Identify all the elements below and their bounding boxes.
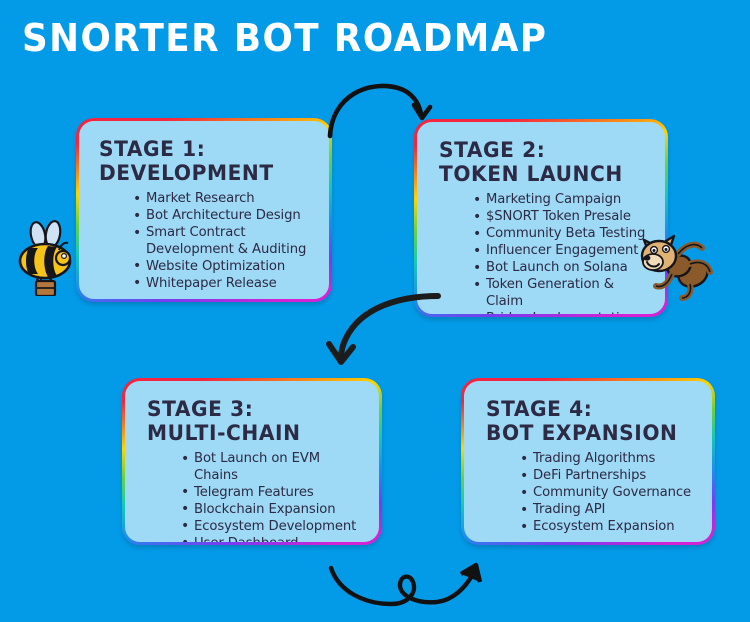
stage-card-4-title-line2: BOT EXPANSION (486, 421, 690, 445)
list-item: Smart Contract Development & Auditing (133, 225, 315, 258)
list-item: Whitepaper Release (133, 276, 315, 293)
list-item: Community Beta Testing (473, 226, 651, 243)
stage-card-3-body: STAGE 3: MULTI-CHAIN Bot Launch on EVM C… (125, 381, 379, 542)
bee-mascot-icon (12, 220, 88, 296)
stage-card-1-list: Market Research Bot Architecture Design … (99, 191, 315, 293)
list-item-text: Smart Contract (146, 225, 245, 240)
stage-card-4: STAGE 4: BOT EXPANSION Trading Algorithm… (461, 378, 715, 545)
stage-card-3-title-line2: MULTI-CHAIN (147, 421, 356, 445)
list-item: Market Research (133, 191, 315, 208)
doge-ant-mascot-icon (638, 226, 716, 304)
curved-arrow-icon-stage2-to-stage3 (322, 292, 444, 368)
stage-card-1: STAGE 1: DEVELOPMENT Market Research Bot… (76, 118, 332, 302)
stage-card-2-title: STAGE 2: TOKEN LAUNCH (439, 138, 643, 186)
stage-card-2-body: STAGE 2: TOKEN LAUNCH Marketing Campaign… (417, 122, 665, 314)
stage-card-4-body: STAGE 4: BOT EXPANSION Trading Algorithm… (464, 381, 712, 542)
list-item: Bot Architecture Design (133, 208, 315, 225)
list-item: Ecosystem Expansion (520, 519, 698, 536)
stage-card-1-title: STAGE 1: DEVELOPMENT (99, 137, 306, 185)
stage-card-2-title-line2: TOKEN LAUNCH (439, 162, 643, 186)
roadmap-infographic: SNORTER BOT ROADMAP STAGE 1: DEVELOPMENT… (0, 0, 750, 622)
stage-card-2-title-line1: STAGE 2: (439, 138, 643, 162)
stage-card-3-list: Bot Launch on EVM Chains Telegram Featur… (147, 451, 365, 542)
stage-card-1-title-line2: DEVELOPMENT (99, 161, 306, 185)
stage-card-4-list: Trading Algorithms DeFi Partnerships Com… (486, 451, 698, 536)
stage-card-4-title-line1: STAGE 4: (486, 397, 690, 421)
list-item: Website Optimization (133, 259, 315, 276)
list-item: Telegram Features (181, 485, 365, 502)
list-item: User Dashboard Integration (181, 536, 365, 542)
list-item: Bridge Implementation (473, 311, 651, 314)
list-item: Blockchain Expansion (181, 502, 365, 519)
list-item: Trading API (520, 502, 698, 519)
list-item: Community Governance (520, 485, 698, 502)
list-item: $SNORT Token Presale (473, 209, 651, 226)
list-item: Marketing Campaign (473, 192, 651, 209)
list-item-text-continued: Development & Auditing (146, 242, 315, 259)
stage-card-3: STAGE 3: MULTI-CHAIN Bot Launch on EVM C… (122, 378, 382, 545)
list-item: DeFi Partnerships (520, 468, 698, 485)
stage-card-2: STAGE 2: TOKEN LAUNCH Marketing Campaign… (414, 119, 668, 317)
stage-card-3-title: STAGE 3: MULTI-CHAIN (147, 397, 356, 445)
list-item: Trading Algorithms (520, 451, 698, 468)
stage-card-3-title-line1: STAGE 3: (147, 397, 356, 421)
curved-arrow-icon-stage1-to-stage2 (322, 78, 442, 140)
page-title: SNORTER BOT ROADMAP (22, 16, 547, 60)
list-item: Influencer Engagement (473, 243, 651, 260)
list-item: Token Generation & Claim (473, 277, 651, 310)
looping-arrow-icon-stage3-to-stage4 (325, 556, 505, 616)
stage-card-1-title-line1: STAGE 1: (99, 137, 306, 161)
list-item: Bot Launch on EVM Chains (181, 451, 365, 484)
stage-card-2-list: Marketing Campaign $SNORT Token Presale … (439, 192, 651, 314)
stage-card-1-body: STAGE 1: DEVELOPMENT Market Research Bot… (79, 121, 329, 299)
list-item: Bot Launch on Solana (473, 260, 651, 277)
stage-card-4-title: STAGE 4: BOT EXPANSION (486, 397, 690, 445)
list-item: Ecosystem Development (181, 519, 365, 536)
